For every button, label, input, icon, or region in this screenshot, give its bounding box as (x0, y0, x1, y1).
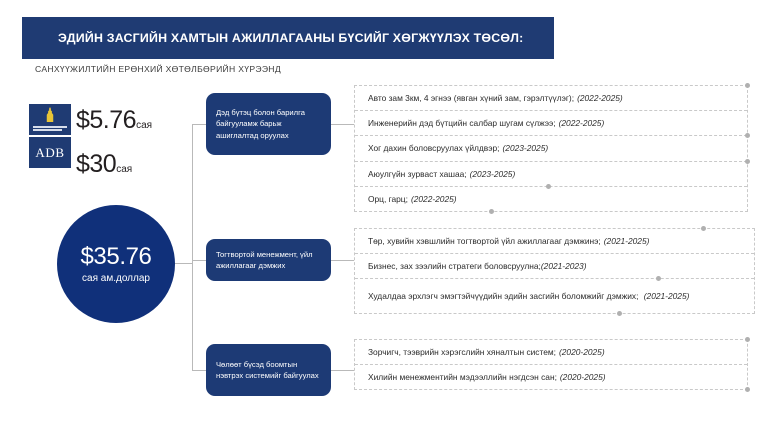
activity-period: (2022-2025) (411, 193, 457, 205)
total-funding-value: $35.76 (80, 244, 151, 270)
branch-pill-border-system[interactable]: Чөлөөт бүсэд боомтын нэвтрэх системийг б… (206, 344, 331, 396)
activity-period: (2023-2025) (470, 168, 516, 180)
list-item[interactable]: Хилийн менежментийн мэдээллийн нэгдсэн с… (355, 365, 747, 389)
soyombo-icon (46, 107, 55, 122)
list-item[interactable]: Худалдаа эрхлэгч эмэгтэйчүүдийн эдийн за… (355, 279, 754, 313)
funding-amount-adb: $30сая (76, 152, 132, 177)
header-bar: ЭДИЙН ЗАСГИЙН ХАМТЫН АЖИЛЛАГААНЫ БҮСИЙГ … (22, 17, 554, 59)
connector-trunk-to-pill-1 (192, 124, 206, 125)
activity-period: (2021-2025) (604, 235, 650, 247)
activity-period: (2020-2025) (560, 371, 606, 383)
page-subtitle: САНХҮҮЖИЛТИЙН ЕРӨНХИЙ ХӨТӨЛБӨРИЙН ХҮРЭЭН… (35, 64, 281, 74)
connector-pill-2-to-group (331, 260, 354, 261)
amount-unit: сая (136, 120, 152, 131)
activity-group-border-system: Зорчигч, тээврийн хэрэгслийн хяналтын си… (354, 339, 748, 390)
page-title: ЭДИЙН ЗАСГИЙН ХАМТЫН АЖИЛЛАГААНЫ БҮСИЙГ … (22, 31, 523, 45)
list-item[interactable]: Инженерийн дэд бүтцийн салбар шугам сүлж… (355, 111, 747, 136)
connector-trunk-to-pill-3 (192, 370, 206, 371)
list-item[interactable]: Орц, гарц; (2022-2025) (355, 187, 747, 211)
activity-period: (2021-2025) (644, 291, 690, 301)
funding-amount-government: $5.76сая (76, 108, 172, 133)
connector-pill-1-to-group (331, 124, 354, 125)
activity-text: Орц, гарц; (368, 193, 408, 205)
branch-pill-management[interactable]: Тогтвортой менежмент, үйл ажиллагааг дэм… (206, 239, 331, 281)
activity-period: (2020-2025) (559, 346, 605, 358)
activity-text: Авто зам 3км, 4 эгнээ (явган хүний зам, … (368, 92, 574, 104)
connector-dot-icon (489, 209, 494, 214)
activity-text: Хог дахин боловсруулах үйлдвэр; (368, 142, 500, 154)
funding-logos: ADB (29, 104, 71, 168)
activity-period: (2023-2025) (503, 142, 549, 154)
activity-text: Аюулгүйн зурваст хашаа; (368, 168, 467, 180)
amount-unit: сая (116, 164, 132, 175)
activity-text: Төр, хувийн хэвшлийн тогтвортой үйл ажил… (368, 235, 601, 247)
branch-pill-infrastructure[interactable]: Дэд бүтэц болон барилга байгууламж барьж… (206, 93, 331, 155)
total-funding-label: сая ам.доллар (82, 273, 150, 284)
connector-dot-icon (701, 226, 706, 231)
connector-dot-icon (745, 83, 750, 88)
adb-logo-label: ADB (35, 145, 64, 161)
connector-dot-icon (745, 387, 750, 392)
total-funding-circle: $35.76 сая ам.доллар (57, 205, 175, 323)
mongolia-government-emblem-icon (29, 104, 71, 135)
list-item[interactable]: Зорчигч, тээврийн хэрэгслийн хяналтын си… (355, 340, 747, 365)
connector-trunk-to-pill-2 (192, 260, 206, 261)
amount-value: $5.76 (76, 106, 136, 134)
activity-period: (2022-2025) (559, 117, 605, 129)
activity-text: Худалдаа эрхлэгч эмэгтэйчүүдийн эдийн за… (368, 291, 638, 301)
activity-text: Инженерийн дэд бүтцийн салбар шугам сүлж… (368, 117, 556, 129)
activity-group-infrastructure: Авто зам 3км, 4 эгнээ (явган хүний зам, … (354, 85, 748, 212)
connector-trunk (192, 124, 193, 370)
connector-dot-icon (745, 337, 750, 342)
list-item[interactable]: Төр, хувийн хэвшлийн тогтвортой үйл ажил… (355, 229, 754, 254)
adb-logo-icon: ADB (29, 137, 71, 168)
activity-period: (2021-2023) (541, 260, 587, 272)
amount-value: $30 (76, 150, 116, 178)
connector-circle-to-trunk (175, 263, 192, 264)
activity-text: Зорчигч, тээврийн хэрэгслийн хяналтын си… (368, 346, 556, 358)
list-item[interactable]: Бизнес, зах зээлийн стратеги боловсруулн… (355, 254, 754, 279)
connector-dot-icon (617, 311, 622, 316)
list-item[interactable]: Хог дахин боловсруулах үйлдвэр; (2023-20… (355, 136, 747, 161)
activity-text: Бизнес, зах зээлийн стратеги боловсруулн… (368, 260, 541, 272)
activity-group-management: Төр, хувийн хэвшлийн тогтвортой үйл ажил… (354, 228, 755, 314)
list-item[interactable]: Авто зам 3км, 4 эгнээ (явган хүний зам, … (355, 86, 747, 111)
connector-pill-3-to-group (331, 370, 354, 371)
emblem-caption-lines (33, 126, 67, 131)
list-item[interactable]: Аюулгүйн зурваст хашаа; (2023-2025) (355, 162, 747, 187)
activity-period: (2022-2025) (577, 92, 623, 104)
slide-root: { "header": { "title": "ЭДИЙН ЗАСГИЙН ХА… (0, 0, 768, 432)
activity-text: Хилийн менежментийн мэдээллийн нэгдсэн с… (368, 371, 557, 383)
